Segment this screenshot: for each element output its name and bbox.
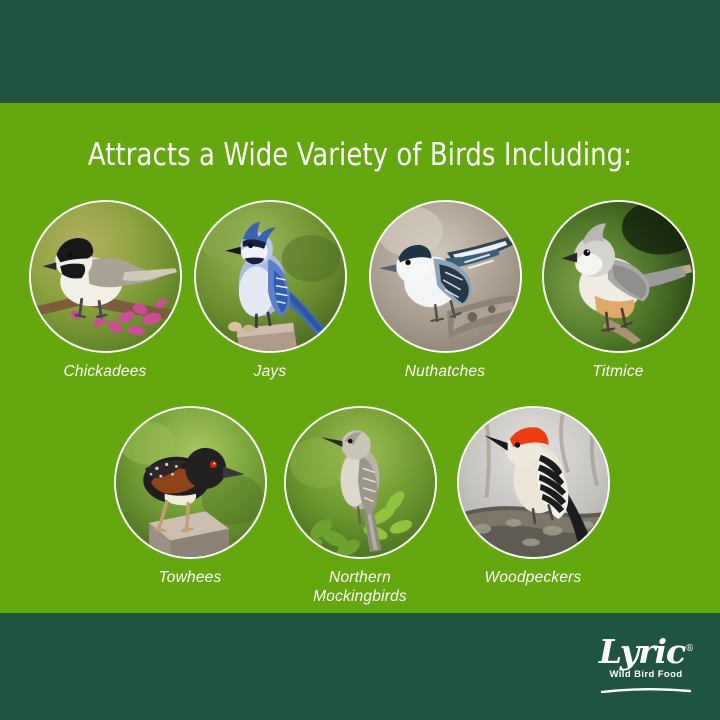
bird-tile-nuthatches: Nuthatches — [367, 200, 523, 381]
bird-tile-mockingbirds: Northern Mockingbirds — [282, 406, 438, 606]
chickadee-photo — [29, 200, 182, 353]
bird-label: Towhees — [112, 568, 268, 587]
bird-tile-titmice: Titmice — [540, 200, 696, 381]
bird-label: Northern Mockingbirds — [282, 568, 438, 606]
page-title: Attracts a Wide Variety of Birds Includi… — [25, 137, 695, 173]
brand-logo: Lyric® Wild Bird Food — [594, 633, 698, 698]
bird-label: Woodpeckers — [455, 568, 611, 587]
poster-canvas: Attracts a Wide Variety of Birds Includi… — [0, 0, 720, 720]
header-band — [0, 0, 720, 103]
bird-label: Chickadees — [27, 362, 183, 381]
mockingbird-photo — [284, 406, 437, 559]
registered-trademark-icon: ® — [685, 644, 693, 654]
logo-swoosh-icon — [600, 688, 692, 693]
woodpecker-photo — [457, 406, 610, 559]
bird-tile-chickadees: Chickadees — [27, 200, 183, 381]
nuthatch-photo — [369, 200, 522, 353]
bird-tile-woodpeckers: Woodpeckers — [455, 406, 611, 587]
blue-jay-photo — [194, 200, 347, 353]
bird-tile-towhees: Towhees — [112, 406, 268, 587]
bird-label: Titmice — [540, 362, 696, 381]
bird-label: Nuthatches — [367, 362, 523, 381]
bird-label: Jays — [192, 362, 348, 381]
logo-wordmark: Lyric® — [599, 633, 693, 668]
titmouse-photo — [542, 200, 695, 353]
logo-wordmark-text: Lyric — [599, 632, 685, 671]
bird-tile-jays: Jays — [192, 200, 348, 381]
towhee-photo — [114, 406, 267, 559]
